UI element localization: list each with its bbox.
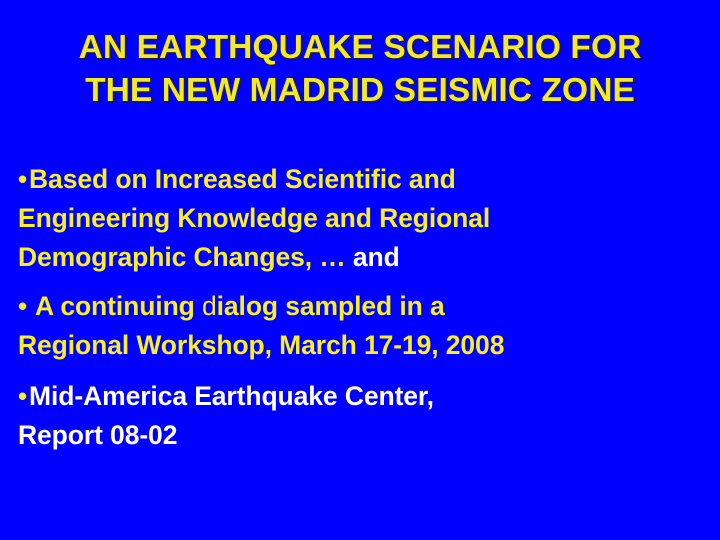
- title-line-1: AN EARTHQUAKE SCENARIO FOR: [0, 26, 720, 69]
- bullet-2-line-1: •A continuing dialog sampled in a: [18, 287, 708, 326]
- bullet-3-line-1-text: Mid-America Earthquake Center,: [29, 381, 434, 411]
- bullet-1-line-2: Engineering Knowledge and Regional: [18, 199, 708, 238]
- bullet-item-1: •Based on Increased Scientific and Engin…: [0, 160, 720, 277]
- bullet-2-line-1-text-b: d: [202, 291, 217, 321]
- presentation-slide: AN EARTHQUAKE SCENARIO FOR THE NEW MADRI…: [0, 0, 720, 540]
- bullet-1-line-1-text: Based on Increased Scientific and: [29, 164, 456, 194]
- bullet-3-line-2-text: Report 08-02: [18, 420, 177, 450]
- bullet-2-line-1-text-c: ialog sampled in a: [217, 291, 445, 321]
- bullet-2-line-2: Regional Workshop, March 17-19, 2008: [18, 326, 708, 365]
- bullet-2-line-2-text: Regional Workshop, March 17-19, 2008: [18, 330, 504, 360]
- bullet-1-line-2-text: Engineering Knowledge and Regional: [18, 203, 490, 233]
- slide-body: •Based on Increased Scientific and Engin…: [0, 160, 720, 459]
- bullet-1-line-3: Demographic Changes, … and: [18, 238, 708, 277]
- bullet-1-line-3-text-a: Demographic Changes, …: [18, 242, 353, 272]
- bullet-dot-icon: •: [18, 381, 29, 411]
- bullet-item-2: •A continuing dialog sampled in a Region…: [0, 287, 720, 365]
- bullet-dot-icon: •: [18, 164, 29, 194]
- bullet-3-line-2: Report 08-02: [18, 416, 708, 455]
- title-line-2: THE NEW MADRID SEISMIC ZONE: [0, 69, 720, 112]
- bullet-dot-icon: •: [18, 291, 35, 321]
- bullet-2-line-1-text-a: A continuing: [35, 291, 202, 321]
- slide-title: AN EARTHQUAKE SCENARIO FOR THE NEW MADRI…: [0, 26, 720, 112]
- bullet-item-3: •Mid-America Earthquake Center, Report 0…: [0, 377, 720, 455]
- bullet-3-line-1: •Mid-America Earthquake Center,: [18, 377, 708, 416]
- bullet-1-line-1: •Based on Increased Scientific and: [18, 160, 708, 199]
- bullet-1-line-3-text-b: and: [353, 242, 400, 272]
